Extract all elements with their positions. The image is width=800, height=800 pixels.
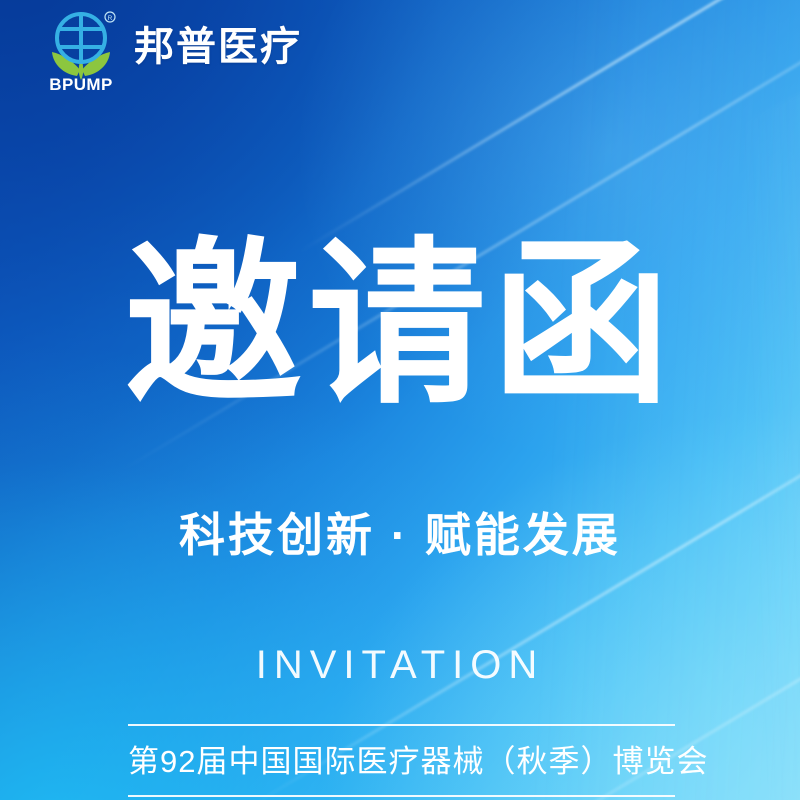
bpump-circle-leaf-logo-icon: R BPUMP [44, 8, 118, 92]
invitation-poster: R BPUMP 邦普医疗 邀请函 科技创新 · 赋能发展 INVITATION … [0, 0, 800, 800]
subtitle: 科技创新 · 赋能发展 [0, 510, 800, 561]
event-name: 第92届中国国际医疗器械（秋季）博览会 [128, 726, 675, 795]
invitation-english-label: INVITATION [0, 645, 800, 685]
page-title: 邀请函 [0, 236, 800, 414]
company-name: 邦普医疗 [134, 27, 302, 67]
footer-rule-bottom [128, 795, 675, 797]
brand-lockup: R BPUMP 邦普医疗 [44, 8, 302, 92]
bpump-wordmark: BPUMP [49, 75, 112, 92]
poster-content: R BPUMP 邦普医疗 邀请函 科技创新 · 赋能发展 INVITATION … [0, 0, 800, 800]
footer-block: 第92届中国国际医疗器械（秋季）博览会 [128, 724, 675, 797]
svg-text:R: R [108, 15, 113, 22]
